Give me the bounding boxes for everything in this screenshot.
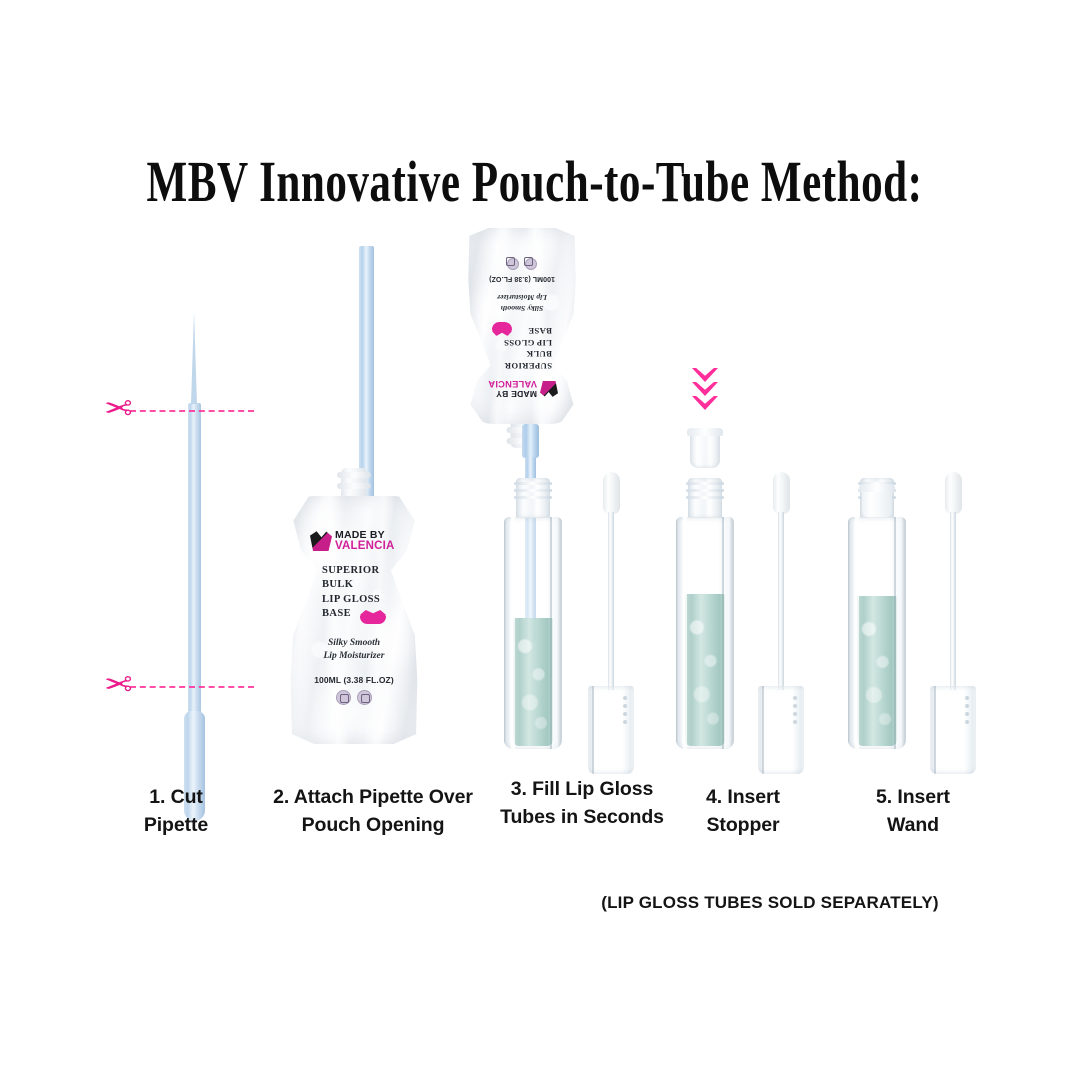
wand-applicator-tip: [603, 472, 620, 514]
step-2-caption: 2. Attach Pipette Over Pouch Opening: [248, 784, 498, 839]
cap-ridge: [793, 712, 797, 716]
wand-rod: [608, 512, 614, 690]
wand-rod: [778, 512, 784, 690]
wand-applicator-tip: [945, 472, 962, 514]
pipette-stem: [188, 403, 201, 713]
step-5-caption: 5. Insert Wand: [838, 784, 988, 839]
neck-thread: [514, 489, 552, 492]
step-2-line-2: Pouch Opening: [248, 812, 498, 840]
pouch-body: [288, 496, 420, 744]
chevron-down-icon: [692, 396, 718, 410]
gloss-pouch-inverted: MADE BY VALENCIA SUPERIOR BULK LIP GLOSS…: [466, 228, 578, 424]
cap-ridge: [965, 696, 969, 700]
step-4-line-2: Stopper: [668, 812, 818, 840]
step-1-caption: 1. Cut Pipette: [96, 784, 256, 839]
cap-ridge: [793, 720, 797, 724]
wand-cap: [930, 686, 976, 774]
neck-thread: [514, 496, 552, 499]
gloss-fill-step4: [685, 594, 725, 746]
cap-ridge: [793, 696, 797, 700]
step-2-line-1: 2. Attach Pipette Over: [248, 784, 498, 812]
pipette-illustration: [176, 312, 212, 821]
tube-body-step4: [676, 517, 734, 749]
neck-thread: [514, 482, 552, 485]
footnote-text: (LIP GLOSS TUBES SOLD SEPARATELY): [560, 893, 980, 913]
wand-cap: [588, 686, 634, 774]
step-5-line-1: 5. Insert: [838, 784, 988, 812]
cap-ridge: [965, 720, 969, 724]
tube-neck-step3: [516, 478, 550, 518]
wand-cap: [758, 686, 804, 774]
pipette-dispensing-collar: [522, 424, 539, 458]
tube-body-step5: [848, 517, 906, 749]
chevron-down-icon: [692, 368, 718, 382]
neck-thread: [686, 482, 724, 485]
cap-ridge: [623, 720, 627, 724]
cut-line-top: [130, 410, 254, 412]
step-3-line-2: Tubes in Seconds: [484, 804, 680, 832]
wand-applicator-tip: [773, 472, 790, 514]
gloss-tube-step5: [848, 478, 906, 749]
pouch-body-inverted: [466, 228, 578, 424]
cap-ridge: [965, 704, 969, 708]
cap-ridge: [623, 704, 627, 708]
cap-ridge: [793, 704, 797, 708]
scissors-icon-top: ✂: [104, 392, 133, 426]
step-3-line-1: 3. Fill Lip Gloss: [484, 776, 680, 804]
tube-neck-step5: [860, 478, 894, 518]
neck-thread: [686, 489, 724, 492]
wand-rod: [950, 512, 956, 690]
neck-thread: [686, 496, 724, 499]
pipette-tip: [191, 312, 197, 404]
cap-ridge: [965, 712, 969, 716]
gloss-pouch: MADE BY VALENCIA SUPERIOR BULK LIP GLOSS…: [288, 496, 420, 744]
gloss-tube-step4: [676, 478, 734, 749]
tube-stopper-floating: [690, 428, 720, 468]
illustration-canvas: MBV Innovative Pouch-to-Tube Method: ✂ ✂…: [0, 0, 1069, 1069]
page-title: MBV Innovative Pouch-to-Tube Method:: [11, 148, 1059, 215]
gloss-wand-step4: [758, 472, 804, 774]
tube-neck-step4: [688, 478, 722, 518]
gloss-tube-step3: [504, 478, 562, 749]
chevron-down-icon: [692, 382, 718, 396]
step-5-line-2: Wand: [838, 812, 988, 840]
down-arrows-group: [692, 368, 718, 410]
cap-ridge: [623, 712, 627, 716]
gloss-fill-step5: [857, 596, 897, 746]
step-3-caption: 3. Fill Lip Gloss Tubes in Seconds: [484, 776, 680, 831]
pipette-attached-stem: [359, 246, 374, 504]
gloss-wand-step5: [930, 472, 976, 774]
cap-ridge: [623, 696, 627, 700]
step-4-caption: 4. Insert Stopper: [668, 784, 818, 839]
step-4-line-1: 4. Insert: [668, 784, 818, 812]
tube-body-step3: [504, 517, 562, 749]
gloss-wand-step3: [588, 472, 634, 774]
step-1-line-2: Pipette: [96, 812, 256, 840]
step-1-line-1: 1. Cut: [96, 784, 256, 812]
gloss-fill-step3: [513, 618, 553, 746]
cut-line-bottom: [130, 686, 254, 688]
tube-stopper-inserted: [862, 484, 892, 518]
scissors-icon-bottom: ✂: [104, 668, 133, 702]
